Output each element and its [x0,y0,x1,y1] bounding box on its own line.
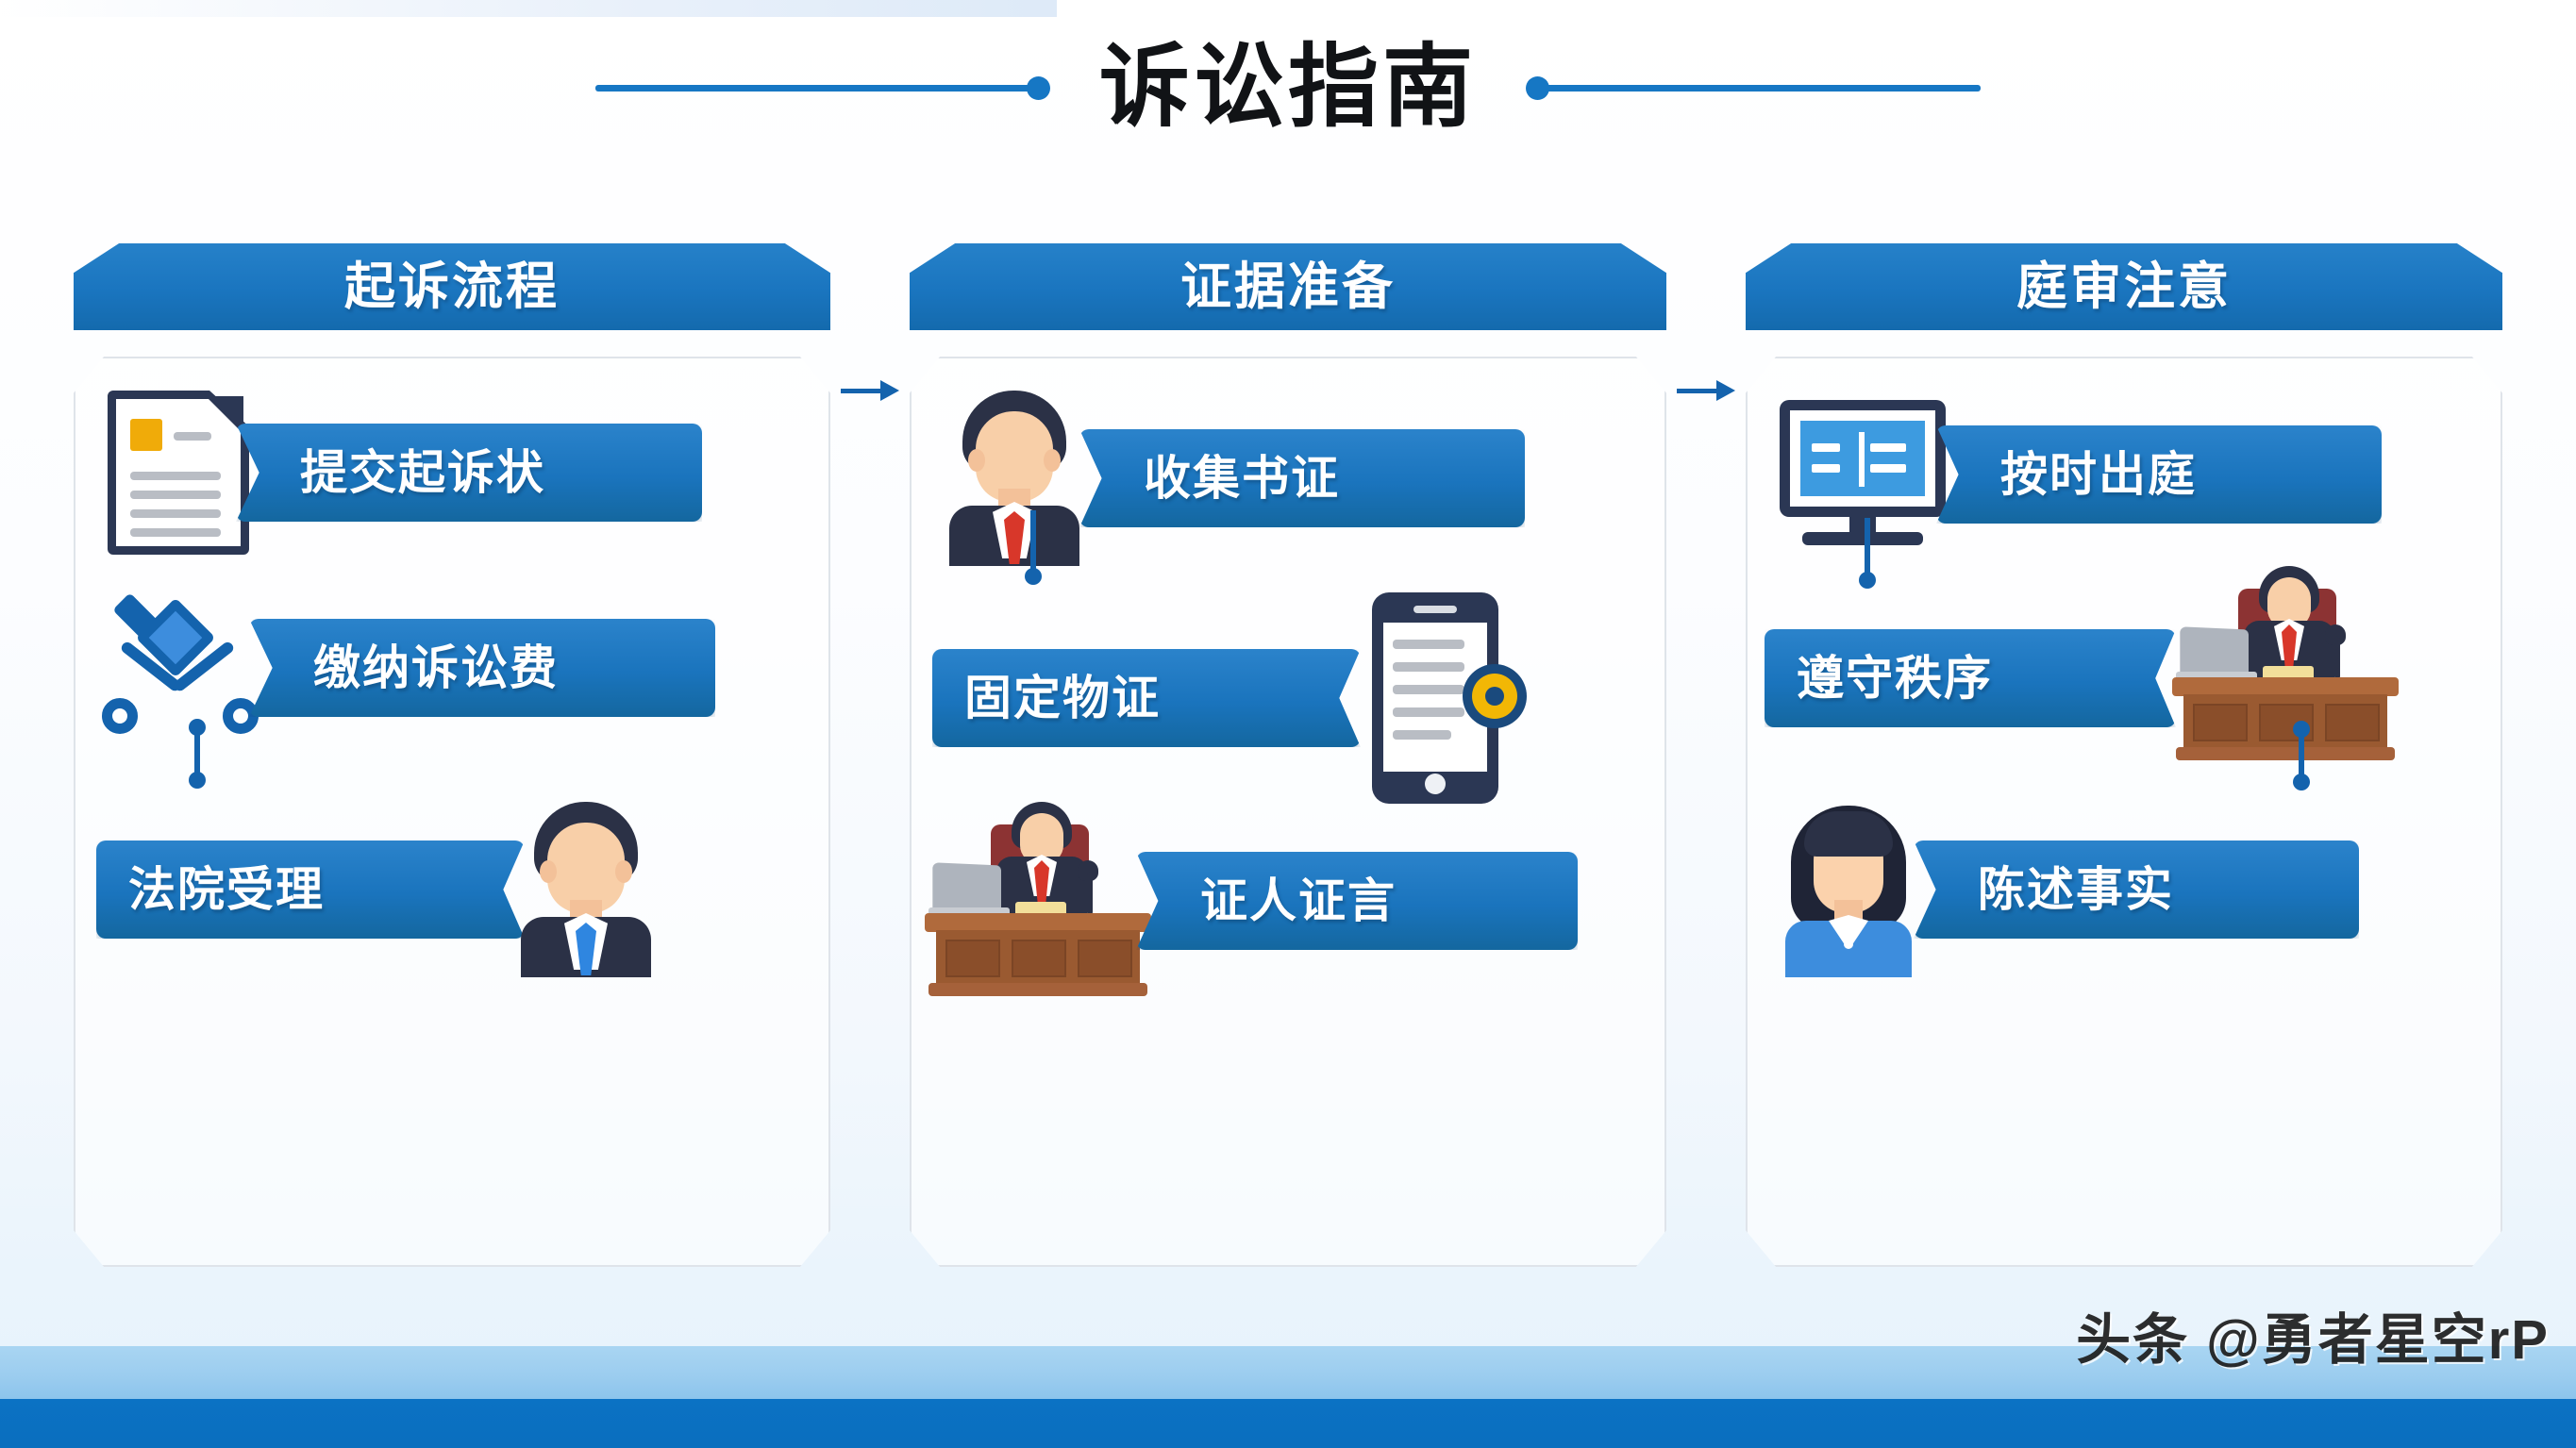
item-label: 证人证言 [1200,877,1397,924]
item-label: 法院受理 [128,866,325,913]
column-header-litigation-process[interactable]: 起诉流程 [74,243,830,330]
column-header-label: 证据准备 [1180,261,1396,312]
item-label: 收集书证 [1144,455,1340,502]
vertical-connector [1859,509,1876,589]
list-item[interactable]: 法院受理 [96,802,657,977]
title-left-decoration [595,76,1050,100]
columns-container: 起诉流程 提交起诉状 [74,243,2502,1267]
top-decorative-stripe [0,0,1057,17]
column-header-evidence-preparation[interactable]: 证据准备 [910,243,1666,330]
list-item[interactable]: 提交起诉状 [108,391,702,555]
column-evidence-preparation: 证据准备 收集书证 固定物 [910,243,1666,1267]
judge-bench-scene-icon [925,802,1151,1000]
gavel-scales-icon [100,592,260,743]
column-header-label: 庭审注意 [2016,261,2232,312]
item-label-chip[interactable]: 提交起诉状 [236,424,702,522]
smartphone-seal-icon [1372,592,1527,804]
title-right-decoration [1526,76,1981,100]
item-label-chip[interactable]: 陈述事实 [1914,841,2359,939]
column-litigation-process: 起诉流程 提交起诉状 [74,243,830,1267]
item-label: 缴纳诉讼费 [313,644,559,691]
item-label-chip[interactable]: 法院受理 [96,841,525,939]
item-label: 遵守秩序 [1797,655,1993,702]
item-label-chip[interactable]: 遵守秩序 [1765,629,2176,727]
column-header-label: 起诉流程 [344,261,560,312]
item-label: 提交起诉状 [300,449,545,496]
watermark-credit: 头条 @勇者星空rP [2076,1295,2550,1374]
column-gap [830,243,910,1267]
item-label-chip[interactable]: 证人证言 [1136,852,1578,950]
list-item[interactable]: 证人证言 [925,802,1578,1000]
vertical-connector [1025,502,1042,585]
column-court-hearing-notes: 庭审注意 按时出庭 [1746,243,2502,1267]
title-left-bar [595,85,1029,92]
item-label-chip[interactable]: 收集书证 [1079,429,1525,527]
title-left-dot [1027,76,1050,100]
column-panel-court-hearing-notes: 按时出庭 遵守秩序 [1746,357,2502,1267]
item-label-chip[interactable]: 缴纳诉讼费 [249,619,715,717]
judge-bench-scene-icon [2172,566,2399,764]
vertical-connector [189,719,206,789]
column-panel-litigation-process: 提交起诉状 缴纳诉讼费 法院受理 [74,357,830,1267]
title-right-bar [1547,85,1981,92]
list-item[interactable]: 陈述事实 [1778,802,2359,977]
page-title-row: 诉讼指南 [0,17,2576,158]
item-label-chip[interactable]: 固定物证 [932,649,1361,747]
vertical-connector [2293,721,2310,791]
flow-arrow-right-icon [1677,380,1735,401]
businessman-red-tie-avatar [944,391,1085,566]
column-header-court-hearing-notes[interactable]: 庭审注意 [1746,243,2502,330]
bottom-dark-band [0,1399,2576,1448]
list-item[interactable]: 固定物证 [932,592,1527,804]
item-label: 陈述事实 [1978,866,2174,913]
column-gap [1666,243,1746,1267]
item-label-chip[interactable]: 按时出庭 [1936,425,2382,524]
page-title: 诉讼指南 [1050,42,1526,133]
item-label: 固定物证 [964,674,1161,722]
column-panel-evidence-preparation: 收集书证 固定物证 [910,357,1666,1267]
woman-avatar [1778,802,1919,977]
businessman-blue-tie-avatar [515,802,657,977]
document-icon [108,391,249,555]
flow-arrow-right-icon [841,380,899,401]
item-label: 按时出庭 [2000,451,2197,498]
